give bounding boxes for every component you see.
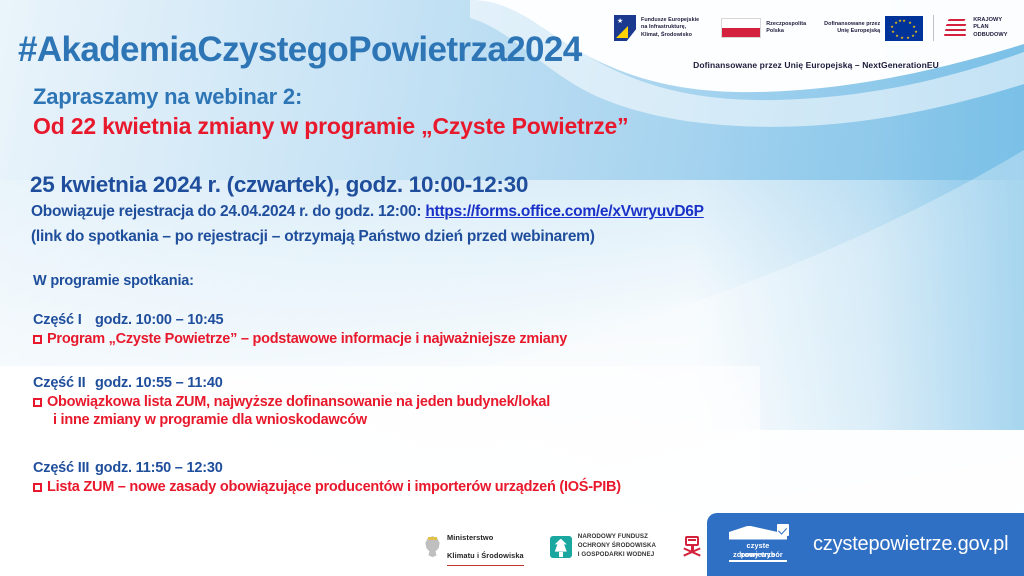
registration-line: Obowiązuje rejestracja do 24.04.2024 r. …	[31, 203, 704, 221]
badge-line-2: zdrowy wybór	[729, 550, 787, 559]
part-item-text: Obowiązkowa lista ZUM, najwyższe dofinan…	[47, 394, 550, 410]
logo-label: Fundusze Europejskie na Infrastrukturę, …	[641, 17, 699, 39]
part-item-text: Program „Czyste Powietrze” – podstawowe …	[47, 331, 567, 347]
site-url[interactable]: czystepowietrze.gov.pl	[813, 533, 1008, 556]
polish-eagle-icon	[424, 536, 441, 557]
registration-link[interactable]: https://forms.office.com/e/xVwryuvD6P	[425, 203, 703, 220]
logo-divider	[933, 15, 934, 41]
part-item-text: Lista ZUM – nowe zasady obowiązujące pro…	[47, 479, 621, 495]
eu-flag-icon: ★ ★ ★ ★ ★ ★ ★ ★ ★ ★ ★ ★	[885, 16, 923, 41]
slide-root: ★ Fundusze Europejskie na Infrastrukturę…	[0, 0, 1024, 576]
funding-note: Dofinansowane przez Unię Europejską – Ne…	[614, 60, 1018, 70]
logo-dofinansowane-ue: Dofinansowane przez Unię Europejską ★ ★ …	[824, 16, 923, 41]
part-label: Część II	[33, 375, 95, 391]
part-header: Część I godz. 10:00 – 10:45	[33, 312, 567, 328]
invitation-line: Zapraszamy na webinar 2:	[33, 84, 302, 110]
logo-label: KRAJOWY PLAN ODBUDOWY	[973, 17, 1007, 39]
part-header: Część II godz. 10:55 – 11:40	[33, 375, 550, 391]
registration-note: (link do spotkania – po rejestracji – ot…	[31, 228, 595, 246]
logo-krajowy-plan-odbudowy: KRAJOWY PLAN ODBUDOWY	[944, 17, 1007, 39]
logo-rzeczpospolita-polska: Rzeczpospolita Polska	[721, 18, 806, 38]
logo-label: Ministerstwo Klimatu i Środowiska	[447, 533, 524, 560]
square-bullet-icon	[33, 335, 42, 344]
program-part-3: Część III godz. 11:50 – 12:30 Lista ZUM …	[33, 460, 621, 495]
part-time: godz. 11:50 – 12:30	[95, 460, 223, 476]
logo-label: Dofinansowane przez Unię Europejską	[824, 21, 880, 35]
program-title: W programie spotkania:	[33, 273, 194, 289]
part-item: Program „Czyste Powietrze” – podstawowe …	[33, 331, 567, 347]
nfosigw-tree-icon	[550, 536, 572, 558]
square-bullet-icon	[33, 483, 42, 492]
part-label: Część III	[33, 460, 95, 476]
webinar-headline: Od 22 kwietnia zmiany w programie „Czyst…	[33, 113, 628, 140]
eu-funding-logo-strip: ★ Fundusze Europejskie na Infrastrukturę…	[614, 8, 1018, 48]
smog-alarm-icon	[682, 536, 702, 558]
registration-prefix: Obowiązuje rejestracja do 24.04.2024 r. …	[31, 203, 425, 220]
logo-nfosigw: NARODOWY FUNDUSZ OCHRONY ŚRODOWISKA I GO…	[550, 533, 656, 559]
part-item-text-2: i inne zmiany w programie dla wnioskodaw…	[47, 412, 550, 428]
footer-logo-strip: Ministerstwo Klimatu i Środowiska NARODO…	[424, 527, 743, 566]
czyste-powietrze-badge-icon: czyste powietrze zdrowy wybór	[723, 524, 795, 566]
campaign-hashtag: #AkademiaCzystegoPowietrza2024	[18, 30, 582, 70]
fundusze-europejskie-icon: ★	[614, 15, 636, 41]
part-label: Część I	[33, 312, 95, 328]
logo-label: Rzeczpospolita Polska	[766, 21, 806, 35]
part-item: Lista ZUM – nowe zasady obowiązujące pro…	[33, 479, 621, 495]
webinar-datetime: 25 kwietnia 2024 r. (czwartek), godz. 10…	[30, 172, 528, 198]
logo-rule	[447, 565, 524, 566]
part-time: godz. 10:00 – 10:45	[95, 312, 223, 328]
part-time: godz. 10:55 – 11:40	[95, 375, 223, 391]
poland-flag-icon	[721, 18, 761, 38]
program-part-2: Część II godz. 10:55 – 11:40 Obowiązkowa…	[33, 375, 550, 428]
logo-ministerstwo-klimatu: Ministerstwo Klimatu i Środowiska	[424, 527, 524, 566]
logo-label: NARODOWY FUNDUSZ OCHRONY ŚRODOWISKA I GO…	[578, 533, 656, 559]
part-header: Część III godz. 11:50 – 12:30	[33, 460, 621, 476]
part-item: Obowiązkowa lista ZUM, najwyższe dofinan…	[33, 394, 550, 428]
square-bullet-icon	[33, 398, 42, 407]
logo-fundusze-europejskie: ★ Fundusze Europejskie na Infrastrukturę…	[614, 15, 699, 41]
krajowy-plan-odbudowy-icon	[944, 17, 968, 39]
program-part-1: Część I godz. 10:00 – 10:45 Program „Czy…	[33, 312, 567, 347]
website-bar: czyste powietrze zdrowy wybór czystepowi…	[707, 513, 1024, 576]
